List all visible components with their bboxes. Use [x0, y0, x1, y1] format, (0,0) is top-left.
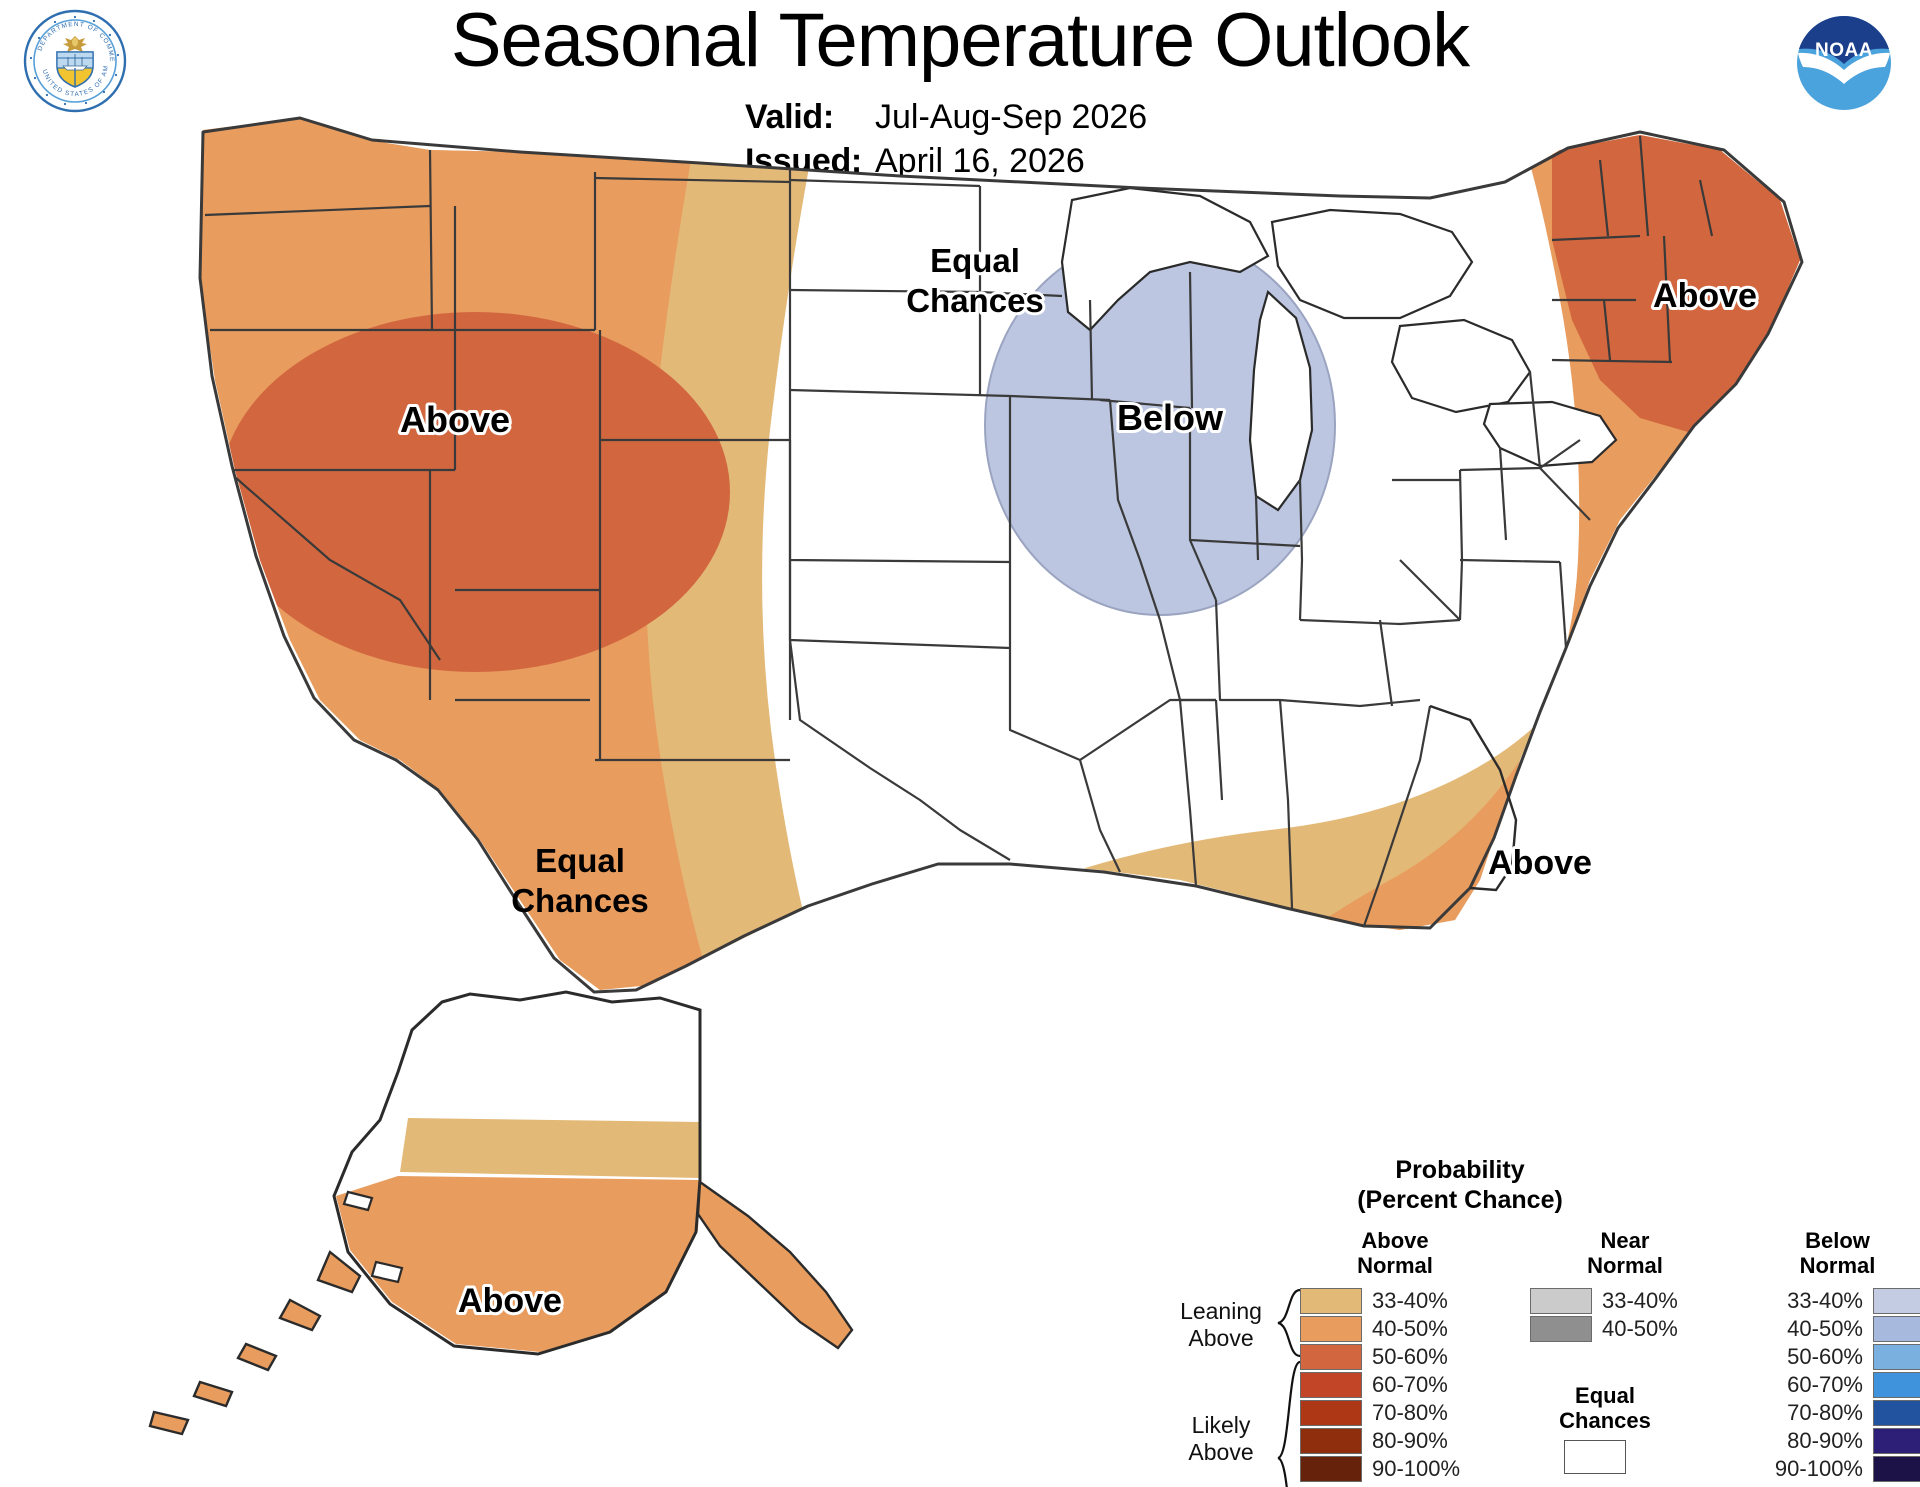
map-label-above-alaska: Above [458, 1282, 562, 1320]
legend-pct-near-33-40: 33-40% [1602, 1288, 1678, 1314]
aleutian-islands [150, 1252, 360, 1434]
alaska-equal-chances-area [442, 1002, 700, 1120]
legend-swatch-above-70-80 [1300, 1400, 1362, 1426]
map-label-equal-chances-plains-line2: Chances [906, 282, 1044, 319]
leaning-above-line1: Leaning [1162, 1298, 1280, 1325]
map-label-above-florida: Above [1488, 844, 1592, 882]
legend-pct-near-40-50: 40-50% [1602, 1316, 1678, 1342]
legend-pct-below-90-100: 90-100% [1775, 1456, 1863, 1482]
alaska-above-40-50-band [336, 1176, 700, 1352]
legend-swatch-above-33-40 [1300, 1288, 1362, 1314]
legend-row-below-90-100: 90-100% [1740, 1455, 1920, 1483]
legend-spacer [1530, 1343, 1720, 1377]
legend-pct-below-80-90: 80-90% [1787, 1428, 1863, 1454]
legend-head-near-line1: Near [1530, 1228, 1720, 1253]
likely-above-line2: Above [1162, 1439, 1280, 1466]
legend-swatch-near-33-40 [1530, 1288, 1592, 1314]
legend-row-below-50-60: 50-60% [1740, 1343, 1920, 1371]
legend-swatch-below-90-100 [1873, 1456, 1920, 1482]
legend-head-near-normal: Near Normal [1530, 1228, 1720, 1278]
probability-legend: Probability (Percent Chance) Above Norma… [1180, 1156, 1920, 1487]
legend-row-above-50-60: 50-60% [1300, 1343, 1490, 1371]
legend-swatch-below-33-40 [1873, 1288, 1920, 1314]
map-label-below-upper-midwest: Below [1117, 397, 1224, 438]
legend-pct-below-50-60: 50-60% [1787, 1344, 1863, 1370]
legend-pct-below-60-70: 60-70% [1787, 1372, 1863, 1398]
legend-row-below-70-80: 70-80% [1740, 1399, 1920, 1427]
legend-swatch-above-50-60 [1300, 1344, 1362, 1370]
legend-row-above-33-40: 33-40% [1300, 1287, 1490, 1315]
map-label-equal-chances-alaska-line2: Chances [511, 882, 649, 919]
legend-row-above-80-90: 80-90% [1300, 1427, 1490, 1455]
legend-column-near-normal: Near Normal 33-40% 40-50% Equal Chances [1530, 1228, 1720, 1474]
map-label-equal-chances-plains-line1: Equal [930, 242, 1020, 279]
legend-pct-above-40-50: 40-50% [1372, 1316, 1448, 1342]
legend-column-below-normal: Below Normal 33-40% 40-50% 50-60% 60-70%… [1740, 1228, 1920, 1483]
legend-row-above-60-70: 60-70% [1300, 1371, 1490, 1399]
alaska-inset [150, 992, 852, 1434]
legend-pct-above-60-70: 60-70% [1372, 1372, 1448, 1398]
legend-head-below-line2: Normal [1740, 1253, 1920, 1278]
legend-title-line1: Probability [1180, 1156, 1740, 1186]
legend-head-above-line2: Normal [1300, 1253, 1490, 1278]
legend-row-near-33-40: 33-40% [1530, 1287, 1720, 1315]
legend-brace-label-leaning-above: Leaning Above [1162, 1298, 1280, 1352]
alaska-above-33-40-band [400, 1118, 700, 1178]
map-label-above-intermountain-west: Above [400, 399, 510, 440]
legend-equal-line1: Equal [1530, 1383, 1680, 1408]
legend-pct-below-33-40: 33-40% [1787, 1288, 1863, 1314]
legend-column-above-normal: Above Normal 33-40% 40-50% 50-60% 60-70% [1300, 1228, 1490, 1483]
legend-pct-above-50-60: 50-60% [1372, 1344, 1448, 1370]
legend-row-below-60-70: 60-70% [1740, 1371, 1920, 1399]
legend-swatch-equal-chances [1564, 1440, 1626, 1474]
legend-pct-below-40-50: 40-50% [1787, 1316, 1863, 1342]
legend-pct-above-70-80: 70-80% [1372, 1400, 1448, 1426]
legend-swatch-above-90-100 [1300, 1456, 1362, 1482]
legend-pct-above-33-40: 33-40% [1372, 1288, 1448, 1314]
legend-equal-chances-label: Equal Chances [1530, 1383, 1680, 1434]
legend-swatch-above-80-90 [1300, 1428, 1362, 1454]
legend-swatch-below-40-50 [1873, 1316, 1920, 1342]
legend-swatch-near-40-50 [1530, 1316, 1592, 1342]
legend-equal-line2: Chances [1530, 1408, 1680, 1433]
legend-head-below-line1: Below [1740, 1228, 1920, 1253]
legend-row-below-33-40: 33-40% [1740, 1287, 1920, 1315]
legend-row-above-40-50: 40-50% [1300, 1315, 1490, 1343]
legend-head-near-line2: Normal [1530, 1253, 1720, 1278]
legend-swatch-above-40-50 [1300, 1316, 1362, 1342]
legend-row-below-40-50: 40-50% [1740, 1315, 1920, 1343]
legend-swatch-below-80-90 [1873, 1428, 1920, 1454]
legend-row-near-40-50: 40-50% [1530, 1315, 1720, 1343]
legend-brace-label-likely-above: Likely Above [1162, 1412, 1280, 1466]
seasonal-temperature-outlook-page: DEPARTMENT OF COMMERCE UNITED STATES OF … [0, 0, 1920, 1487]
legend-swatch-below-60-70 [1873, 1372, 1920, 1398]
likely-above-line1: Likely [1162, 1412, 1280, 1439]
legend-row-above-70-80: 70-80% [1300, 1399, 1490, 1427]
above-50-60-intermountain-core [220, 312, 730, 672]
map-label-above-northeast: Above [1653, 277, 1757, 315]
legend-title-line2: (Percent Chance) [1180, 1186, 1740, 1216]
legend-swatch-above-60-70 [1300, 1372, 1362, 1398]
legend-row-below-80-90: 80-90% [1740, 1427, 1920, 1455]
legend-title: Probability (Percent Chance) [1180, 1156, 1740, 1215]
legend-swatch-below-50-60 [1873, 1344, 1920, 1370]
legend-pct-above-80-90: 80-90% [1372, 1428, 1448, 1454]
leaning-above-line2: Above [1162, 1325, 1280, 1352]
legend-pct-above-90-100: 90-100% [1372, 1456, 1460, 1482]
map-label-equal-chances-alaska-line1: Equal [535, 842, 625, 879]
legend-head-above-normal: Above Normal [1300, 1228, 1490, 1278]
legend-pct-below-70-80: 70-80% [1787, 1400, 1863, 1426]
legend-head-below-normal: Below Normal [1740, 1228, 1920, 1278]
legend-swatch-below-70-80 [1873, 1400, 1920, 1426]
legend-row-above-90-100: 90-100% [1300, 1455, 1490, 1483]
legend-head-above-line1: Above [1300, 1228, 1490, 1253]
alaska-panhandle [698, 1182, 852, 1348]
